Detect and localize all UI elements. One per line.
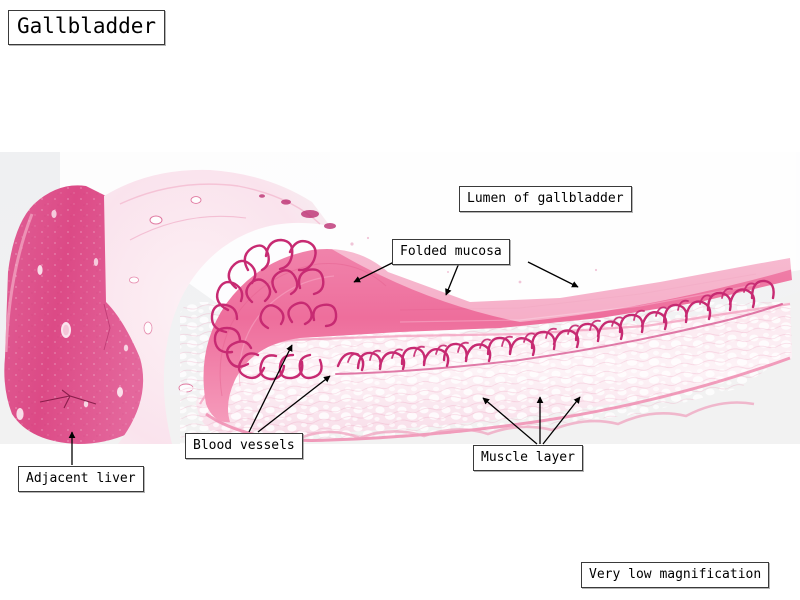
label-muscle-layer: Muscle layer (473, 445, 583, 471)
label-folded-mucosa: Folded mucosa (392, 239, 510, 265)
label-adjacent-liver: Adjacent liver (18, 466, 144, 492)
page-title: Gallbladder (8, 10, 165, 45)
label-lumen-of-gallbladder: Lumen of gallbladder (459, 186, 632, 212)
gallbladder-histology-image (0, 152, 800, 444)
histology-figure: Gallbladder Lumen of gallbladder Folded … (0, 0, 800, 600)
micrograph-slide (0, 152, 800, 444)
label-magnification: Very low magnification (581, 562, 769, 588)
label-blood-vessels: Blood vessels (185, 433, 303, 459)
